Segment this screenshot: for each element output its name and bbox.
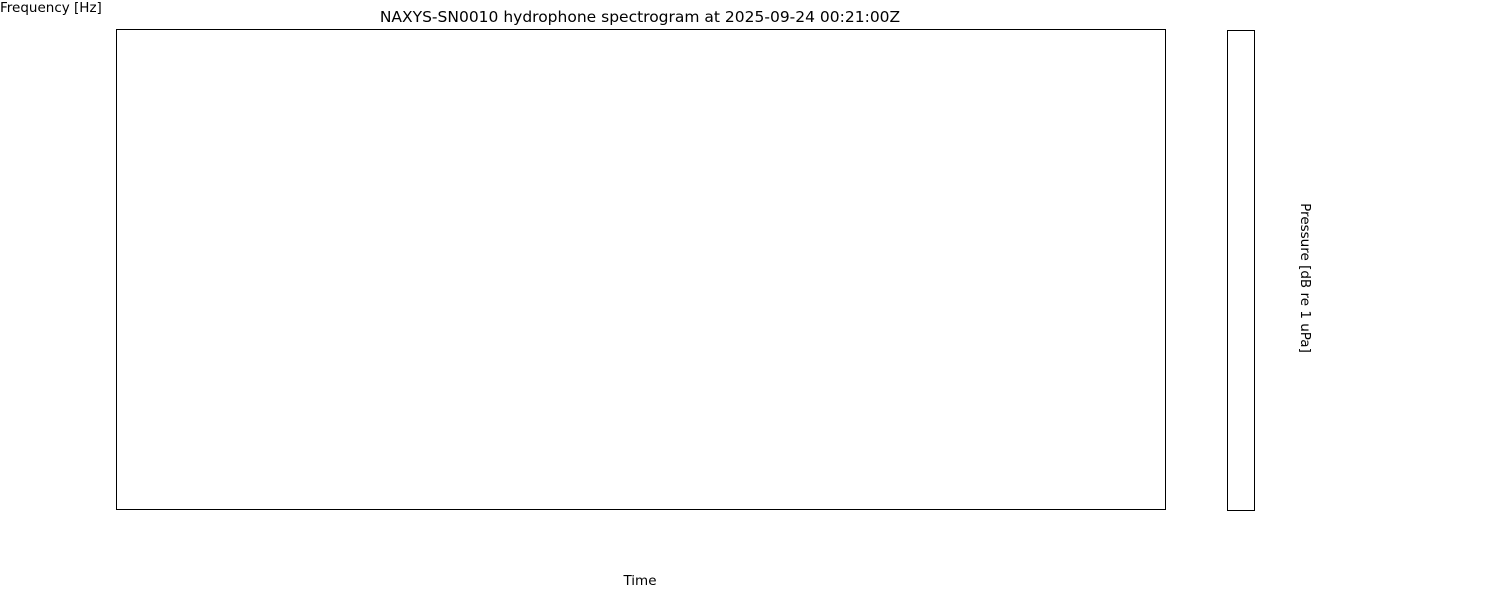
colorbar-gradient [1228,31,1254,510]
y-axis-label: Frequency [Hz] [0,0,102,16]
spectrogram-axes[interactable] [116,29,1166,510]
colorbar[interactable] [1227,30,1255,511]
colorbar-label: Pressure [dB re 1 uPa] [1297,203,1313,353]
spectrogram-figure: NAXYS-SN0010 hydrophone spectrogram at 2… [0,0,1500,600]
page-title: NAXYS-SN0010 hydrophone spectrogram at 2… [116,8,1164,26]
x-axis-label: Time [116,573,1164,589]
spectrogram-image[interactable] [117,30,1165,509]
